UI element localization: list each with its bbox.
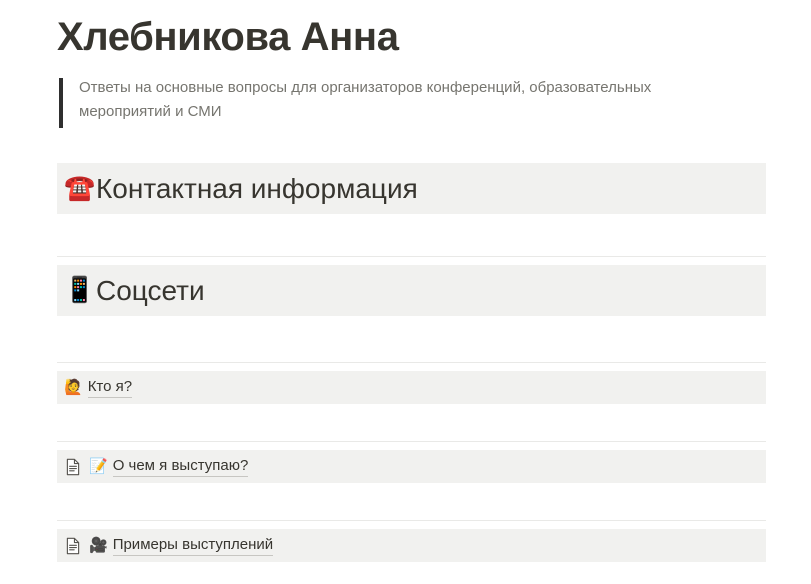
divider-above-what-i-speak-about bbox=[57, 441, 766, 442]
page-link-row-talk-examples[interactable]: 🎥 Примеры выступлений bbox=[57, 529, 766, 562]
telephone-emoji: ☎️ bbox=[64, 176, 96, 201]
page-document-icon bbox=[64, 537, 82, 555]
divider-above-who-am-i bbox=[57, 362, 766, 363]
mobile-phone-emoji: 📱 bbox=[64, 278, 96, 303]
raising-hand-emoji: 🙋 bbox=[64, 380, 83, 395]
document-page: Хлебникова Анна Ответы на основные вопро… bbox=[0, 0, 811, 584]
toggle-block-contact-info[interactable]: ☎️ Контактная информация bbox=[57, 163, 766, 214]
quote-text: Ответы на основные вопросы для организат… bbox=[79, 76, 709, 124]
toggle-label-contact-info: Контактная информация bbox=[96, 172, 418, 206]
page-link-row-who-am-i[interactable]: 🙋 Кто я? bbox=[57, 371, 766, 404]
page-link-label-who-am-i[interactable]: Кто я? bbox=[88, 377, 132, 398]
divider-above-socials bbox=[57, 256, 766, 257]
quote-accent-bar bbox=[59, 78, 63, 128]
toggle-label-socials: Соцсети bbox=[96, 274, 205, 308]
page-link-row-what-i-speak-about[interactable]: 📝 О чем я выступаю? bbox=[57, 450, 766, 483]
page-title[interactable]: Хлебникова Анна bbox=[57, 13, 769, 61]
page-document-icon bbox=[64, 458, 82, 476]
page-link-label-talk-examples[interactable]: Примеры выступлений bbox=[113, 535, 274, 556]
divider-above-talk-examples bbox=[57, 520, 766, 521]
memo-emoji: 📝 bbox=[89, 459, 108, 474]
movie-camera-emoji: 🎥 bbox=[89, 538, 108, 553]
page-link-label-what-i-speak-about[interactable]: О чем я выступаю? bbox=[113, 456, 249, 477]
toggle-block-socials[interactable]: 📱 Соцсети bbox=[57, 265, 766, 316]
